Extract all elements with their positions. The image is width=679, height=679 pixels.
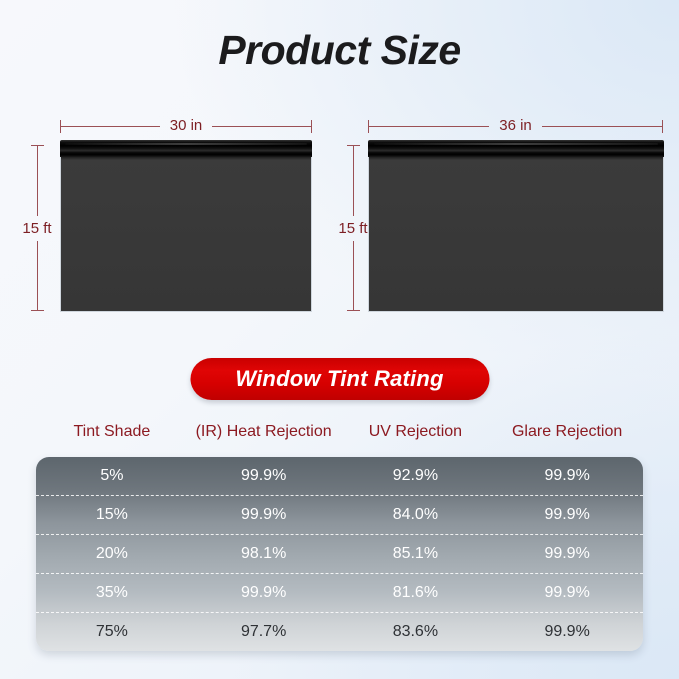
dimension-line-icon [37,146,38,216]
film-roll-core [368,140,664,157]
table-row: 15% 99.9% 84.0% 99.9% [36,495,643,534]
cell-glare-rejection: 99.9% [491,506,643,524]
cell-glare-rejection: 99.9% [491,623,643,641]
film-sheet [368,157,664,312]
cell-uv-rejection: 85.1% [340,545,492,563]
product-infographic: Product Size 30 in 15 ft 36 in [0,0,679,679]
dimension-cap-right-icon [311,120,312,133]
dimension-line-icon [212,126,311,127]
window-film-roll-image [60,140,312,312]
page-title: Product Size [0,27,679,74]
dimension-cap-right-icon [662,120,663,133]
table-row: 35% 99.9% 81.6% 99.9% [36,573,643,612]
rating-table: 5% 99.9% 92.9% 99.9% 15% 99.9% 84.0% 99.… [36,457,643,651]
dimension-line-icon [353,146,354,216]
height-dimension-label: 15 ft [22,216,51,241]
cell-tint-shade: 75% [36,623,188,641]
cell-heat-rejection: 99.9% [188,584,340,602]
dimension-line-icon [542,126,662,127]
cell-heat-rejection: 97.7% [188,623,340,641]
film-roll-core [60,140,312,157]
cell-uv-rejection: 84.0% [340,506,492,524]
window-film-roll-image [368,140,664,312]
table-row: 75% 97.7% 83.6% 99.9% [36,612,643,651]
cell-uv-rejection: 83.6% [340,623,492,641]
width-dimension-30in: 30 in [60,118,312,134]
cell-glare-rejection: 99.9% [491,584,643,602]
column-header-tint-shade: Tint Shade [36,423,188,441]
width-dimension-36in: 36 in [368,118,663,134]
height-dimension-label: 15 ft [338,216,367,241]
cell-uv-rejection: 81.6% [340,584,492,602]
cell-tint-shade: 35% [36,584,188,602]
height-dimension-30in: 15 ft [14,145,60,311]
dimension-cap-bottom-icon [31,310,44,311]
width-dimension-label: 30 in [160,118,213,133]
cell-tint-shade: 15% [36,506,188,524]
cell-uv-rejection: 92.9% [340,467,492,485]
table-row: 20% 98.1% 85.1% 99.9% [36,534,643,573]
column-header-uv-rejection: UV Rejection [340,423,492,441]
width-dimension-label: 36 in [489,118,542,133]
cell-tint-shade: 5% [36,467,188,485]
cell-heat-rejection: 99.9% [188,506,340,524]
cell-glare-rejection: 99.9% [491,467,643,485]
cell-glare-rejection: 99.9% [491,545,643,563]
dimension-line-icon [369,126,489,127]
table-row: 5% 99.9% 92.9% 99.9% [36,457,643,495]
column-header-heat-rejection: (IR) Heat Rejection [188,423,340,441]
dimension-line-icon [61,126,160,127]
window-tint-rating-banner: Window Tint Rating [190,358,489,400]
dimension-line-icon [37,241,38,311]
dimension-line-icon [353,241,354,311]
rating-table-header: Tint Shade (IR) Heat Rejection UV Reject… [36,423,643,441]
cell-tint-shade: 20% [36,545,188,563]
film-sheet [60,157,312,312]
cell-heat-rejection: 99.9% [188,467,340,485]
cell-heat-rejection: 98.1% [188,545,340,563]
dimension-cap-bottom-icon [347,310,360,311]
banner-label: Window Tint Rating [235,366,443,392]
column-header-glare-rejection: Glare Rejection [491,423,643,441]
